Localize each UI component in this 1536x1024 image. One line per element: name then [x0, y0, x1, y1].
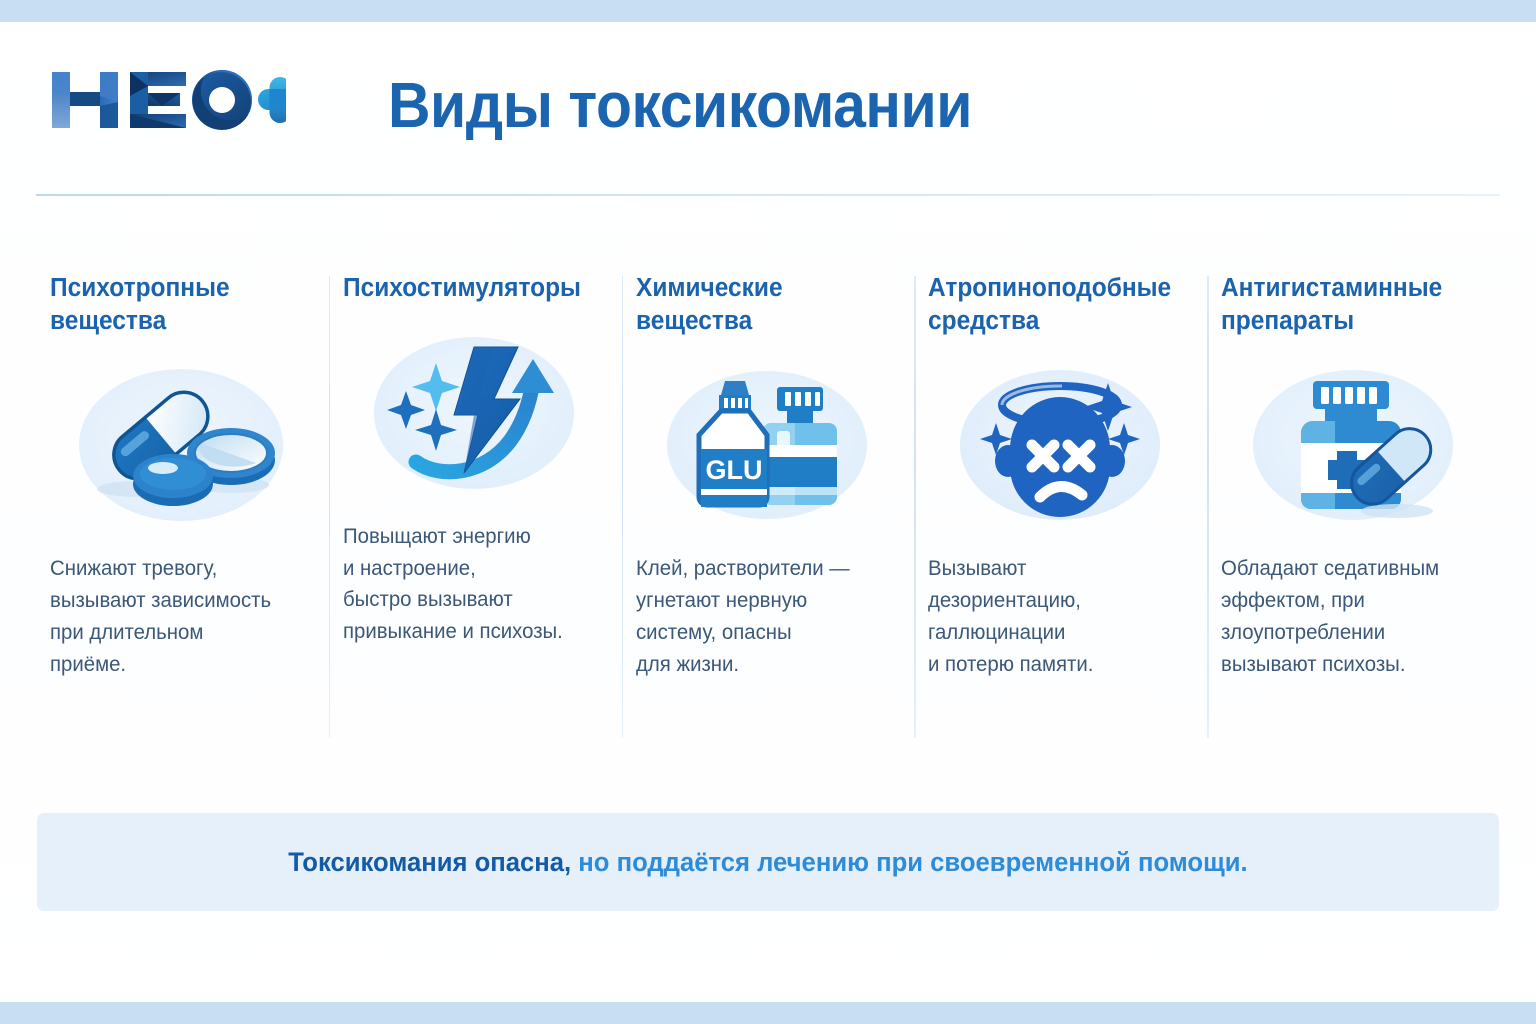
category-column-psychotropic: Психотропные вещества	[36, 272, 329, 742]
glue-solvent-bottles-icon: GLU	[636, 359, 899, 531]
page-title: Виды токсикомании	[388, 68, 972, 142]
footer-banner: Токсикомания опасна, но поддаётся лечени…	[37, 813, 1499, 911]
top-accent-bar	[0, 0, 1536, 22]
category-column-stimulants: Психостимуляторы	[329, 272, 622, 742]
category-description: Обладают седативным эффектом, при злоупо…	[1221, 553, 1476, 681]
category-column-atropine: Атропиноподобные средства	[914, 272, 1207, 742]
glue-bottle-label: GLU	[705, 455, 762, 485]
category-description: Снижают тревогу, вызывают зависимость пр…	[50, 553, 305, 681]
neo-plus-logo	[46, 62, 286, 138]
medicine-bottle-capsule-icon	[1221, 359, 1484, 531]
category-column-antihistamines: Антигистаминные препараты	[1207, 272, 1500, 742]
category-title: Психостимуляторы	[343, 272, 595, 305]
pills-capsule-icon	[50, 359, 313, 531]
category-title: Химические вещества	[636, 272, 888, 337]
category-column-chemicals: Химические вещества	[622, 272, 915, 742]
category-title: Антигистаминные препараты	[1221, 272, 1473, 337]
category-description: Клей, растворители — угнетают нервную си…	[636, 553, 891, 681]
category-title: Атропиноподобные средства	[928, 272, 1180, 337]
header: Виды токсикомании	[0, 22, 1536, 172]
footer-message-rest: но поддаётся лечению при своевременной п…	[571, 847, 1247, 877]
category-title: Психотропные вещества	[50, 272, 302, 337]
dizzy-face-icon	[928, 359, 1191, 531]
category-description: Повыщают энергию и настроение, быстро вы…	[343, 521, 598, 649]
lightning-bolt-arrow-icon	[343, 327, 606, 499]
footer-message: Токсикомания опасна, но поддаётся лечени…	[288, 846, 1247, 878]
header-divider	[36, 194, 1500, 196]
infographic-page: Виды токсикомании Психотропные вещества	[0, 0, 1536, 1024]
bottom-accent-bar	[0, 1002, 1536, 1024]
footer-message-strong: Токсикомания опасна,	[288, 847, 571, 877]
category-description: Вызывают дезориентацию, галлюцинации и п…	[928, 553, 1183, 681]
category-columns: Психотропные вещества	[36, 272, 1500, 742]
